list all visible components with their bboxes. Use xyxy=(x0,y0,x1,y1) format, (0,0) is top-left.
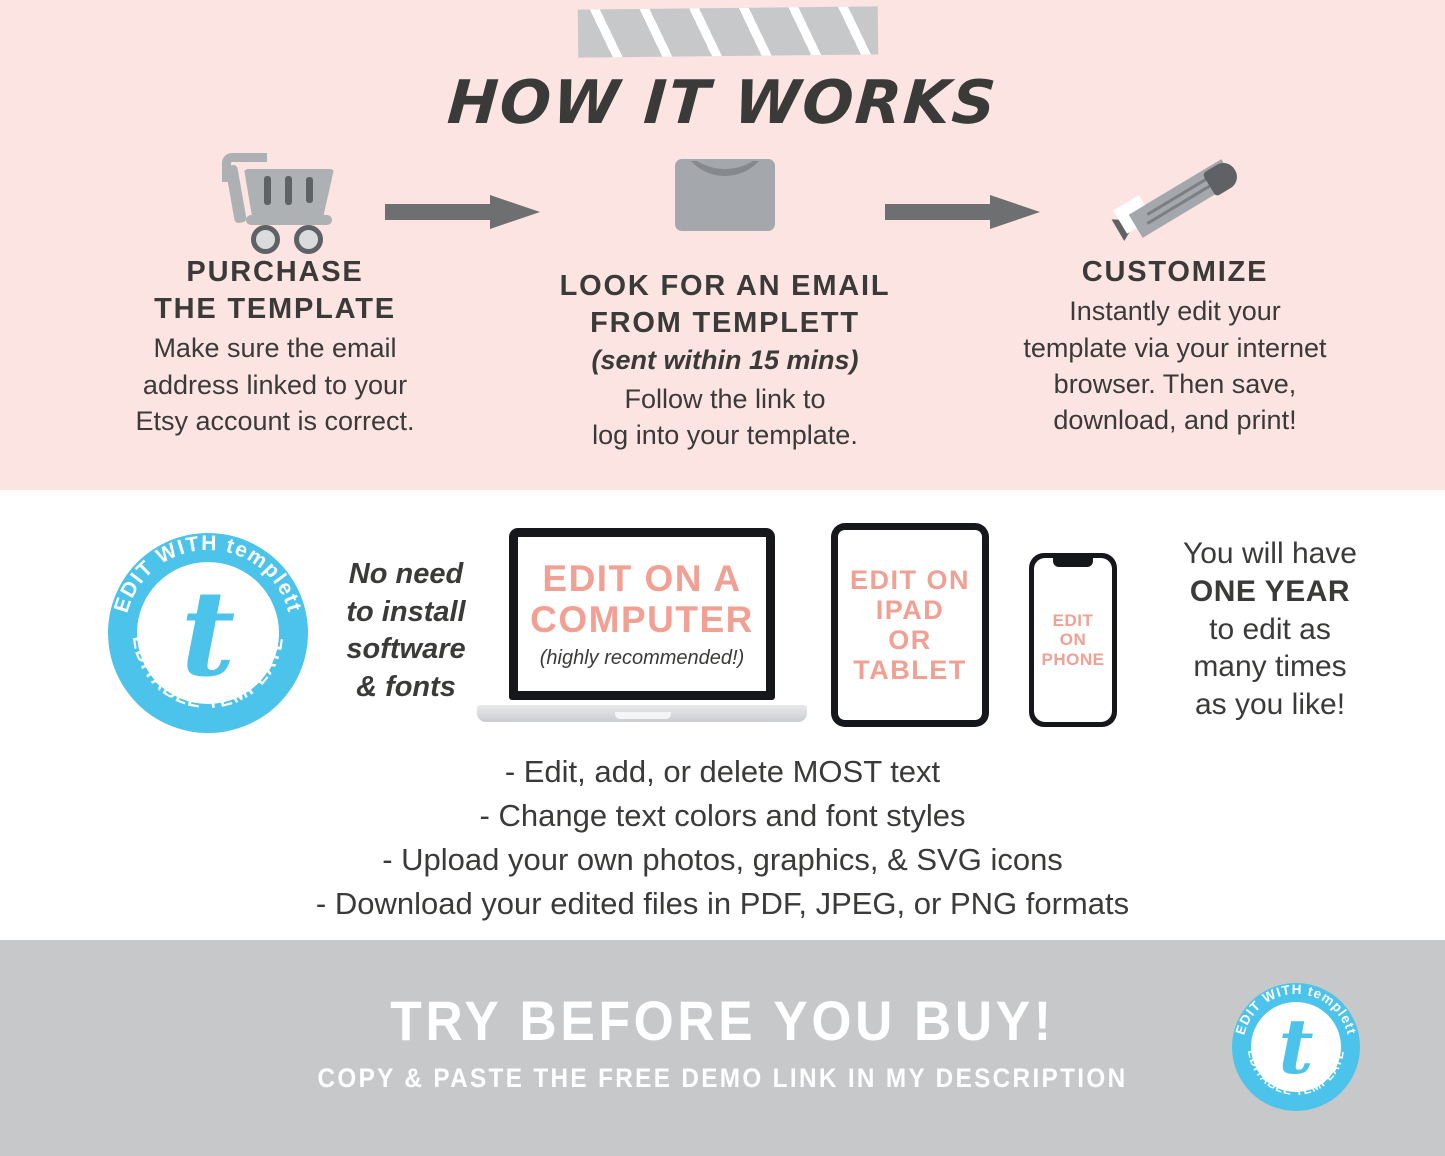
step-3-body-line1: Instantly edit your xyxy=(940,293,1410,329)
laptop-title-line2: COMPUTER xyxy=(530,599,754,640)
list-item: - Upload your own photos, graphics, & SV… xyxy=(0,838,1445,882)
one-year-line5: as you like! xyxy=(1125,686,1415,724)
templett-badge: t EDIT WITH templett EDITABLE TEMPLATE xyxy=(108,533,308,733)
step-purchase: PURCHASE THE TEMPLATE Make sure the emai… xyxy=(40,145,510,440)
step-3-body: Instantly edit your template via your in… xyxy=(940,293,1410,439)
templett-badge-small: t EDIT WITH templett EDITABLE TEMPLATE xyxy=(1232,983,1360,1111)
templett-badge-small-bottom-text: EDITABLE TEMPLATE xyxy=(1245,1049,1347,1098)
list-item: - Edit, add, or delete MOST text xyxy=(0,750,1445,794)
phone-notch xyxy=(1053,558,1093,567)
cart-wheel xyxy=(294,225,323,254)
no-need-text: No need to install software & fonts xyxy=(326,556,486,707)
tablet-title-line4: TABLET xyxy=(850,655,970,685)
one-year-line1: You will have xyxy=(1125,535,1415,573)
step-1-body: Make sure the email address linked to yo… xyxy=(40,330,510,439)
banner-title: TRY BEFORE YOU BUY! xyxy=(58,988,1387,1053)
templett-badge-small-top-text: EDIT WITH templett xyxy=(1233,983,1360,1037)
tablet-screen-title: EDIT ON IPAD OR TABLET xyxy=(850,565,970,686)
phone-title-line3: PHONE xyxy=(1042,650,1105,669)
one-year-text: You will have ONE YEAR to edit as many t… xyxy=(1125,535,1415,724)
step-2-body: Follow the link to log into your templat… xyxy=(490,381,960,454)
tablet-screen: EDIT ON IPAD OR TABLET xyxy=(838,530,982,720)
laptop-device: EDIT ON A COMPUTER (highly recommended!) xyxy=(477,528,807,726)
tablet-device: EDIT ON IPAD OR TABLET xyxy=(831,523,989,727)
laptop-screen: EDIT ON A COMPUTER (highly recommended!) xyxy=(518,537,766,691)
phone-screen: EDIT ON PHONE xyxy=(1034,558,1112,722)
step-1-heading-line1: PURCHASE xyxy=(40,254,510,291)
no-need-line2: to install xyxy=(326,594,486,632)
svg-text:EDITABLE TEMPLATE: EDITABLE TEMPLATE xyxy=(128,635,288,714)
step-customize: CUSTOMIZE Instantly edit your template v… xyxy=(940,145,1410,439)
tablet-title-line1: EDIT ON xyxy=(850,565,970,595)
svg-text:EDIT WITH templett: EDIT WITH templett xyxy=(110,533,306,616)
step-2-heading-line1: LOOK FOR AN EMAIL xyxy=(490,268,960,305)
templett-badge-bottom-text: EDITABLE TEMPLATE xyxy=(128,635,288,714)
phone-device: EDIT ON PHONE xyxy=(1029,553,1117,727)
svg-text:EDIT WITH templett: EDIT WITH templett xyxy=(1233,983,1360,1037)
step-2-body-line2: log into your template. xyxy=(490,417,960,453)
cart-line xyxy=(285,176,292,205)
list-item: - Download your edited files in PDF, JPE… xyxy=(0,882,1445,926)
step-1-icon-wrap xyxy=(40,145,510,250)
envelope-icon xyxy=(675,159,775,231)
svg-text:EDITABLE TEMPLATE: EDITABLE TEMPLATE xyxy=(1245,1049,1347,1098)
step-2-heading-line2: FROM TEMPLETT xyxy=(490,305,960,342)
templett-badge-small-text: EDIT WITH templett EDITABLE TEMPLATE xyxy=(1232,983,1360,1111)
laptop-screen-subtitle: (highly recommended!) xyxy=(540,647,745,670)
envelope-flap xyxy=(679,161,771,201)
list-item: - Change text colors and font styles xyxy=(0,794,1445,838)
one-year-line4: many times xyxy=(1125,648,1415,686)
no-need-line1: No need xyxy=(326,556,486,594)
step-3-body-line3: browser. Then save, xyxy=(940,366,1410,402)
step-1-heading: PURCHASE THE TEMPLATE xyxy=(40,254,510,328)
step-1-heading-line2: THE TEMPLATE xyxy=(40,291,510,328)
page-title: HOW IT WORKS xyxy=(0,68,1445,138)
phone-screen-title: EDIT ON PHONE xyxy=(1042,611,1105,668)
step-3-icon-wrap xyxy=(940,145,1410,250)
laptop-lid: EDIT ON A COMPUTER (highly recommended!) xyxy=(509,528,775,700)
step-3-heading-line1: CUSTOMIZE xyxy=(940,254,1410,291)
step-1-body-line3: Etsy account is correct. xyxy=(40,403,510,439)
tablet-title-line3: OR xyxy=(850,625,970,655)
cart-line xyxy=(306,177,313,203)
banner-subtitle: COPY & PASTE THE FREE DEMO LINK IN MY DE… xyxy=(72,1063,1373,1094)
laptop-title-line1: EDIT ON A xyxy=(530,558,754,599)
washi-tape-icon xyxy=(578,6,878,57)
templett-badge-text: EDIT WITH templett EDITABLE TEMPLATE xyxy=(108,533,308,733)
laptop-screen-title: EDIT ON A COMPUTER xyxy=(530,558,754,641)
no-need-line4: & fonts xyxy=(326,669,486,707)
infographic-page: HOW IT WORKS xyxy=(0,0,1445,1156)
step-3-body-line2: template via your internet xyxy=(940,330,1410,366)
templett-badge-top-text: EDIT WITH templett xyxy=(110,533,306,616)
step-1-body-line1: Make sure the email xyxy=(40,330,510,366)
step-2-note: (sent within 15 mins) xyxy=(490,342,960,378)
step-look-for-email: LOOK FOR AN EMAIL FROM TEMPLETT (sent wi… xyxy=(490,145,960,454)
how-it-works-section: HOW IT WORKS xyxy=(0,0,1445,490)
phone-title-line2: ON xyxy=(1042,630,1105,649)
shopping-cart-icon xyxy=(216,145,334,245)
feature-bullet-list: - Edit, add, or delete MOST text - Chang… xyxy=(0,750,1445,926)
one-year-line3: to edit as xyxy=(1125,611,1415,649)
cart-wheel xyxy=(251,225,280,254)
no-need-line3: software xyxy=(326,631,486,669)
step-2-body-line1: Follow the link to xyxy=(490,381,960,417)
tablet-title-line2: IPAD xyxy=(850,595,970,625)
step-1-body-line2: address linked to your xyxy=(40,367,510,403)
step-3-heading: CUSTOMIZE xyxy=(940,254,1410,291)
washi-tape-stripes xyxy=(578,6,878,57)
phone-title-line1: EDIT xyxy=(1042,611,1105,630)
cart-line xyxy=(264,176,271,205)
step-2-heading: LOOK FOR AN EMAIL FROM TEMPLETT xyxy=(490,268,960,342)
step-2-icon-wrap xyxy=(490,159,960,264)
laptop-trackpad-notch xyxy=(615,712,671,719)
step-3-body-line4: download, and print! xyxy=(940,402,1410,438)
one-year-highlight: ONE YEAR xyxy=(1190,575,1350,608)
cart-bottom xyxy=(246,215,332,225)
pencil-icon xyxy=(1110,145,1240,245)
